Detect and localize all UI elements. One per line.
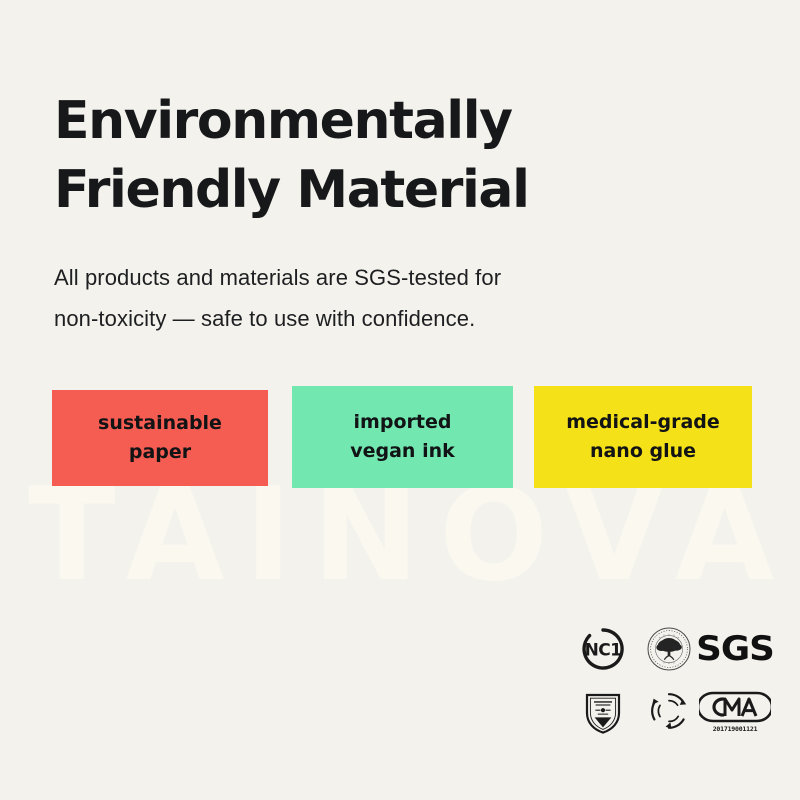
- chip-label-line-1: imported: [354, 408, 452, 437]
- sgs-mark-icon: SGS: [702, 619, 768, 679]
- chip-label-line-2: nano glue: [590, 437, 696, 466]
- shield-badge-icon: [570, 681, 636, 741]
- nc1-badge-icon: NC1: [570, 619, 636, 679]
- material-chip-group: sustainable paper imported vegan ink med…: [52, 390, 752, 490]
- cma-mark-number: 201719001121: [713, 725, 758, 733]
- material-chip-sustainable-paper: sustainable paper: [52, 390, 268, 486]
- material-chip-imported-vegan-ink: imported vegan ink: [292, 386, 513, 488]
- certification-row-2: 201719001121: [570, 680, 784, 742]
- tree-seal-icon: [636, 619, 702, 679]
- brand-watermark: TAINOVA: [28, 472, 800, 600]
- chip-label-line-2: paper: [129, 438, 191, 467]
- material-chip-medical-grade-nano-glue: medical-grade nano glue: [534, 386, 752, 488]
- page-subtitle: All products and materials are SGS-teste…: [54, 258, 654, 339]
- page-subtitle-line-1: All products and materials are SGS-teste…: [54, 258, 654, 299]
- cma-mark-icon: 201719001121: [702, 681, 768, 741]
- certification-row-1: NC1: [570, 618, 784, 680]
- page-title-line-2: Friendly Material: [54, 156, 714, 225]
- chip-label-line-1: medical-grade: [566, 408, 720, 437]
- chip-label-line-2: vegan ink: [350, 437, 455, 466]
- page-title: Environmentally Friendly Material: [54, 87, 714, 225]
- chip-label-line-1: sustainable: [98, 409, 222, 438]
- sgs-mark-label: SGS: [696, 629, 774, 669]
- svg-text:NC1: NC1: [585, 641, 622, 661]
- recycling-mark-icon: [636, 681, 702, 741]
- page-subtitle-line-2: non-toxicity — safe to use with confiden…: [54, 299, 654, 340]
- certification-logo-group: NC1: [570, 618, 784, 742]
- page-title-line-1: Environmentally: [54, 91, 512, 151]
- poster-canvas: TAINOVA Environmentally Friendly Materia…: [0, 0, 800, 800]
